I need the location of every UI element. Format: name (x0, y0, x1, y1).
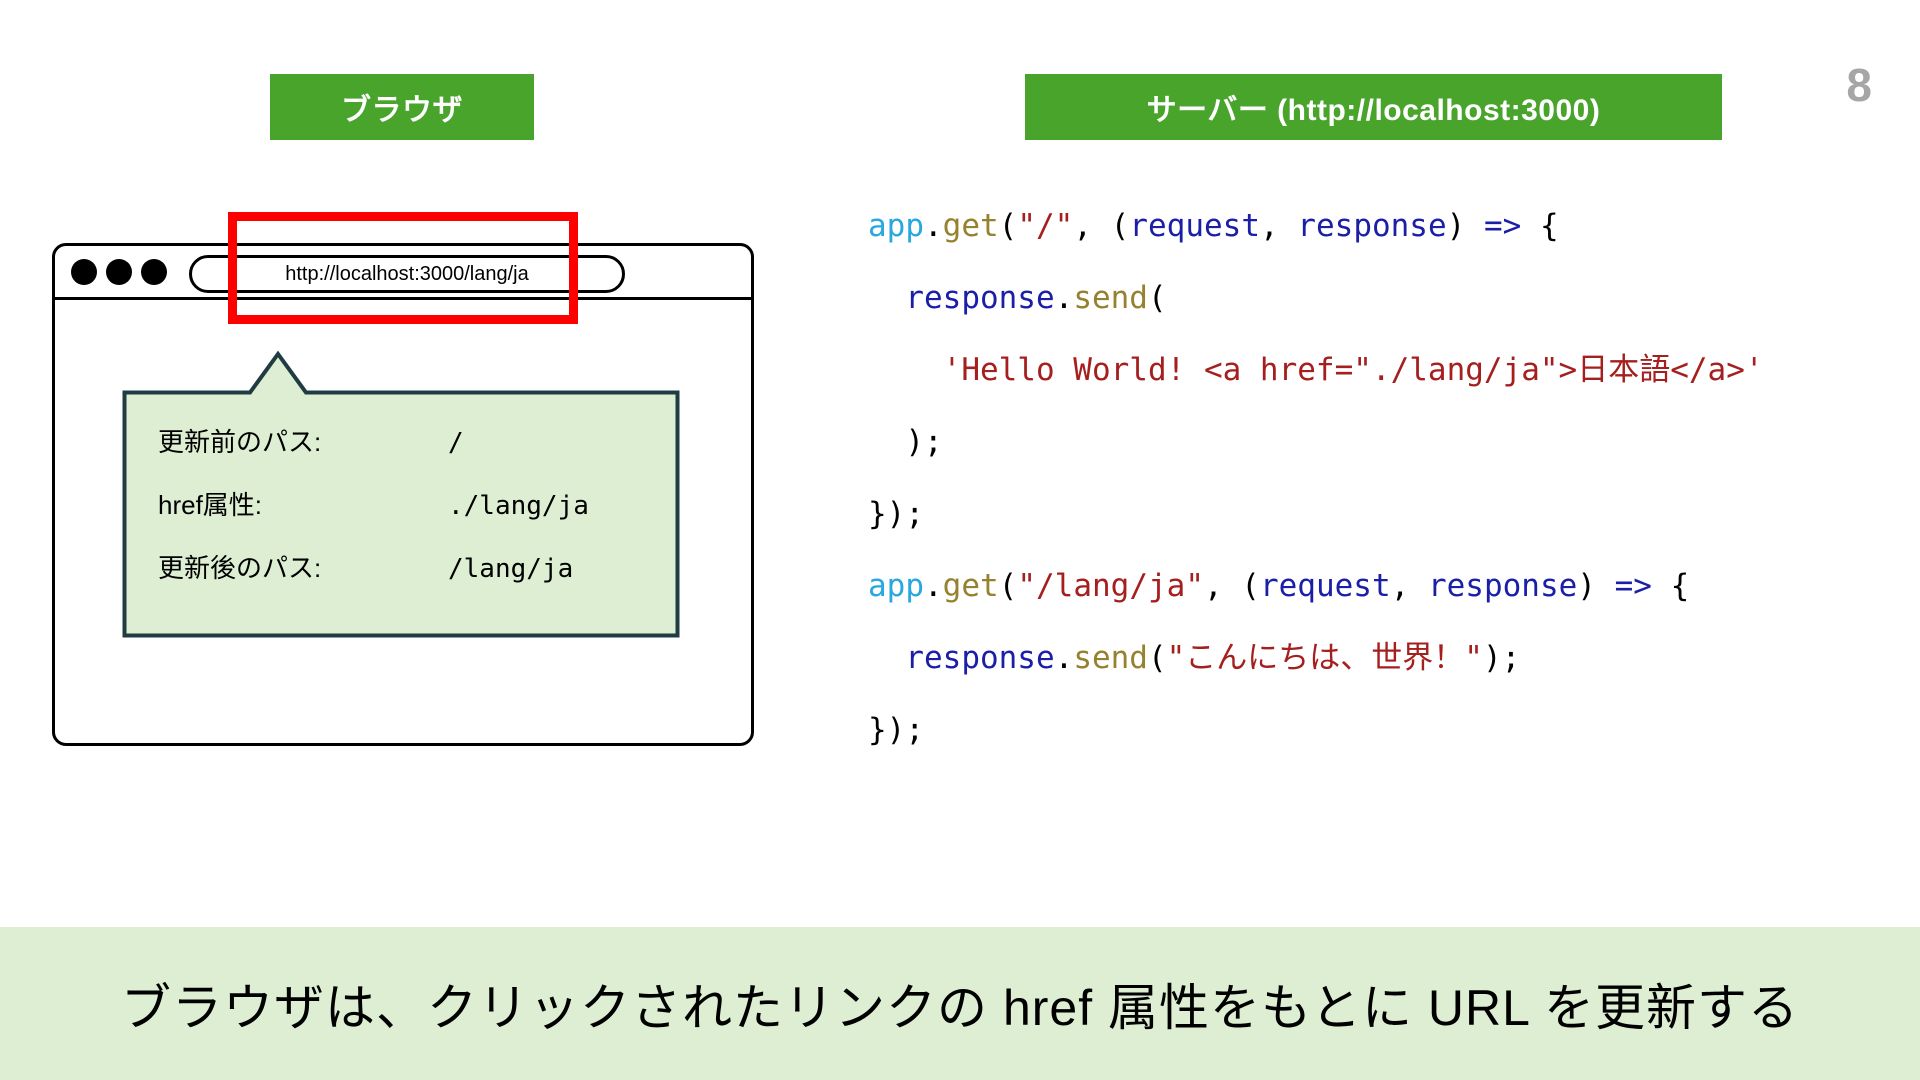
page-number: 8 (1846, 62, 1872, 108)
code-token: "こんにちは、世界！" (1167, 640, 1483, 676)
url-bar[interactable]: http://localhost:3000/lang/ja (189, 255, 625, 293)
code-token: }); (868, 496, 924, 532)
badge-browser: ブラウザ (270, 74, 534, 140)
code-line: }); (868, 478, 1764, 550)
code-token: send (1073, 640, 1148, 676)
code-token: request (1260, 568, 1391, 604)
code-token: get (943, 208, 999, 244)
code-token: ) (1577, 568, 1614, 604)
code-token: { (1521, 208, 1558, 244)
code-line: app.get("/", (request, response) => { (868, 190, 1764, 262)
code-token: { (1652, 568, 1689, 604)
code-token: ); (868, 424, 943, 460)
code-line: response.send("こんにちは、世界！"); (868, 622, 1764, 694)
code-line: app.get("/lang/ja", (request, response) … (868, 550, 1764, 622)
traffic-light-dot-icon (106, 259, 132, 285)
code-token: ( (999, 568, 1018, 604)
callout-row: 更新前のパス: / (158, 422, 658, 485)
code-token: . (924, 568, 943, 604)
url-bar-text: http://localhost:3000/lang/ja (285, 263, 529, 286)
code-token: , ( (1073, 208, 1129, 244)
code-token: . (1055, 280, 1074, 316)
callout-row: href属性: ./lang/ja (158, 485, 658, 548)
code-token (868, 280, 905, 316)
code-line: }); (868, 694, 1764, 766)
code-token: response (905, 280, 1054, 316)
traffic-light-dot-icon (141, 259, 167, 285)
callout-row: 更新後のパス: /lang/ja (158, 548, 658, 611)
code-token: . (1055, 640, 1074, 676)
code-token: 'Hello World! <a href="./lang/ja">日本語</a… (943, 352, 1764, 388)
code-token: ) (1447, 208, 1484, 244)
traffic-light-dot-icon (71, 259, 97, 285)
code-token: => (1615, 568, 1652, 604)
badge-server-label: サーバー (http://localhost:3000) (1147, 85, 1601, 129)
bottom-banner: ブラウザは、クリックされたリンクの href 属性をもとに URL を更新する (0, 927, 1920, 1080)
code-token: "/lang/ja" (1017, 568, 1204, 604)
code-token: => (1484, 208, 1521, 244)
code-line: 'Hello World! <a href="./lang/ja">日本語</a… (868, 334, 1764, 406)
code-token (868, 640, 905, 676)
code-token: . (924, 208, 943, 244)
code-token: , (1260, 208, 1297, 244)
code-token: ( (1148, 280, 1167, 316)
path-callout: 更新前のパス: / href属性: ./lang/ja 更新後のパス: /lan… (122, 350, 680, 638)
code-block: app.get("/", (request, response) => { re… (868, 190, 1764, 766)
code-token: response (905, 640, 1054, 676)
code-token: response (1428, 568, 1577, 604)
code-token: get (943, 568, 999, 604)
callout-row-value: ./lang/ja (448, 491, 589, 521)
callout-row-label: 更新前のパス: (158, 422, 448, 459)
code-token: , ( (1204, 568, 1260, 604)
browser-chrome: http://localhost:3000/lang/ja (55, 246, 751, 300)
callout-row-value: / (448, 428, 464, 458)
code-token: ( (1148, 640, 1167, 676)
code-token: }); (868, 712, 924, 748)
code-line: ); (868, 406, 1764, 478)
callout-row-label: href属性: (158, 485, 448, 522)
badge-browser-label: ブラウザ (341, 85, 463, 129)
code-token: ( (999, 208, 1018, 244)
callout-rows: 更新前のパス: / href属性: ./lang/ja 更新後のパス: /lan… (158, 422, 658, 611)
code-token: request (1129, 208, 1260, 244)
code-token: send (1073, 280, 1148, 316)
callout-row-label: 更新後のパス: (158, 548, 448, 585)
code-token: ); (1483, 640, 1520, 676)
code-token (868, 352, 943, 388)
code-line: response.send( (868, 262, 1764, 334)
callout-row-value: /lang/ja (448, 554, 573, 584)
code-token: app (868, 208, 924, 244)
code-token: "/" (1017, 208, 1073, 244)
badge-server: サーバー (http://localhost:3000) (1025, 74, 1722, 140)
code-token: response (1297, 208, 1446, 244)
code-token: , (1391, 568, 1428, 604)
code-token: app (868, 568, 924, 604)
bottom-banner-text: ブラウザは、クリックされたリンクの href 属性をもとに URL を更新する (121, 968, 1799, 1040)
